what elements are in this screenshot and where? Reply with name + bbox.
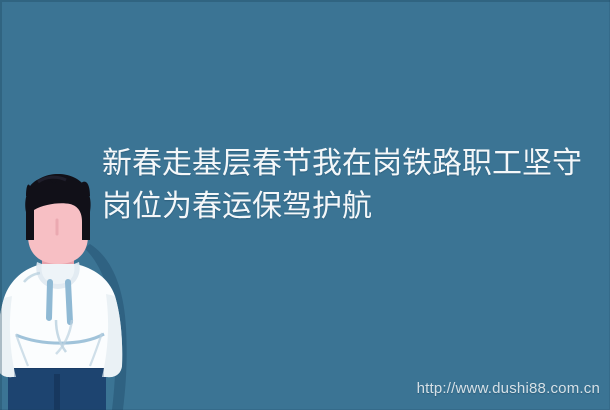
watermark-url: http://www.dushi88.com.cn — [417, 380, 600, 398]
drawstring-left — [49, 282, 50, 318]
page-title: 新春走基层春节我在岗铁路职工坚守岗位为春运保驾护航 — [102, 142, 602, 228]
hoodie — [0, 262, 122, 377]
pants — [8, 364, 106, 410]
thumbnail-canvas: 新春走基层春节我在岗铁路职工坚守岗位为春运保驾护航 http://www.dus… — [0, 0, 610, 410]
drawstring-right — [68, 282, 70, 322]
